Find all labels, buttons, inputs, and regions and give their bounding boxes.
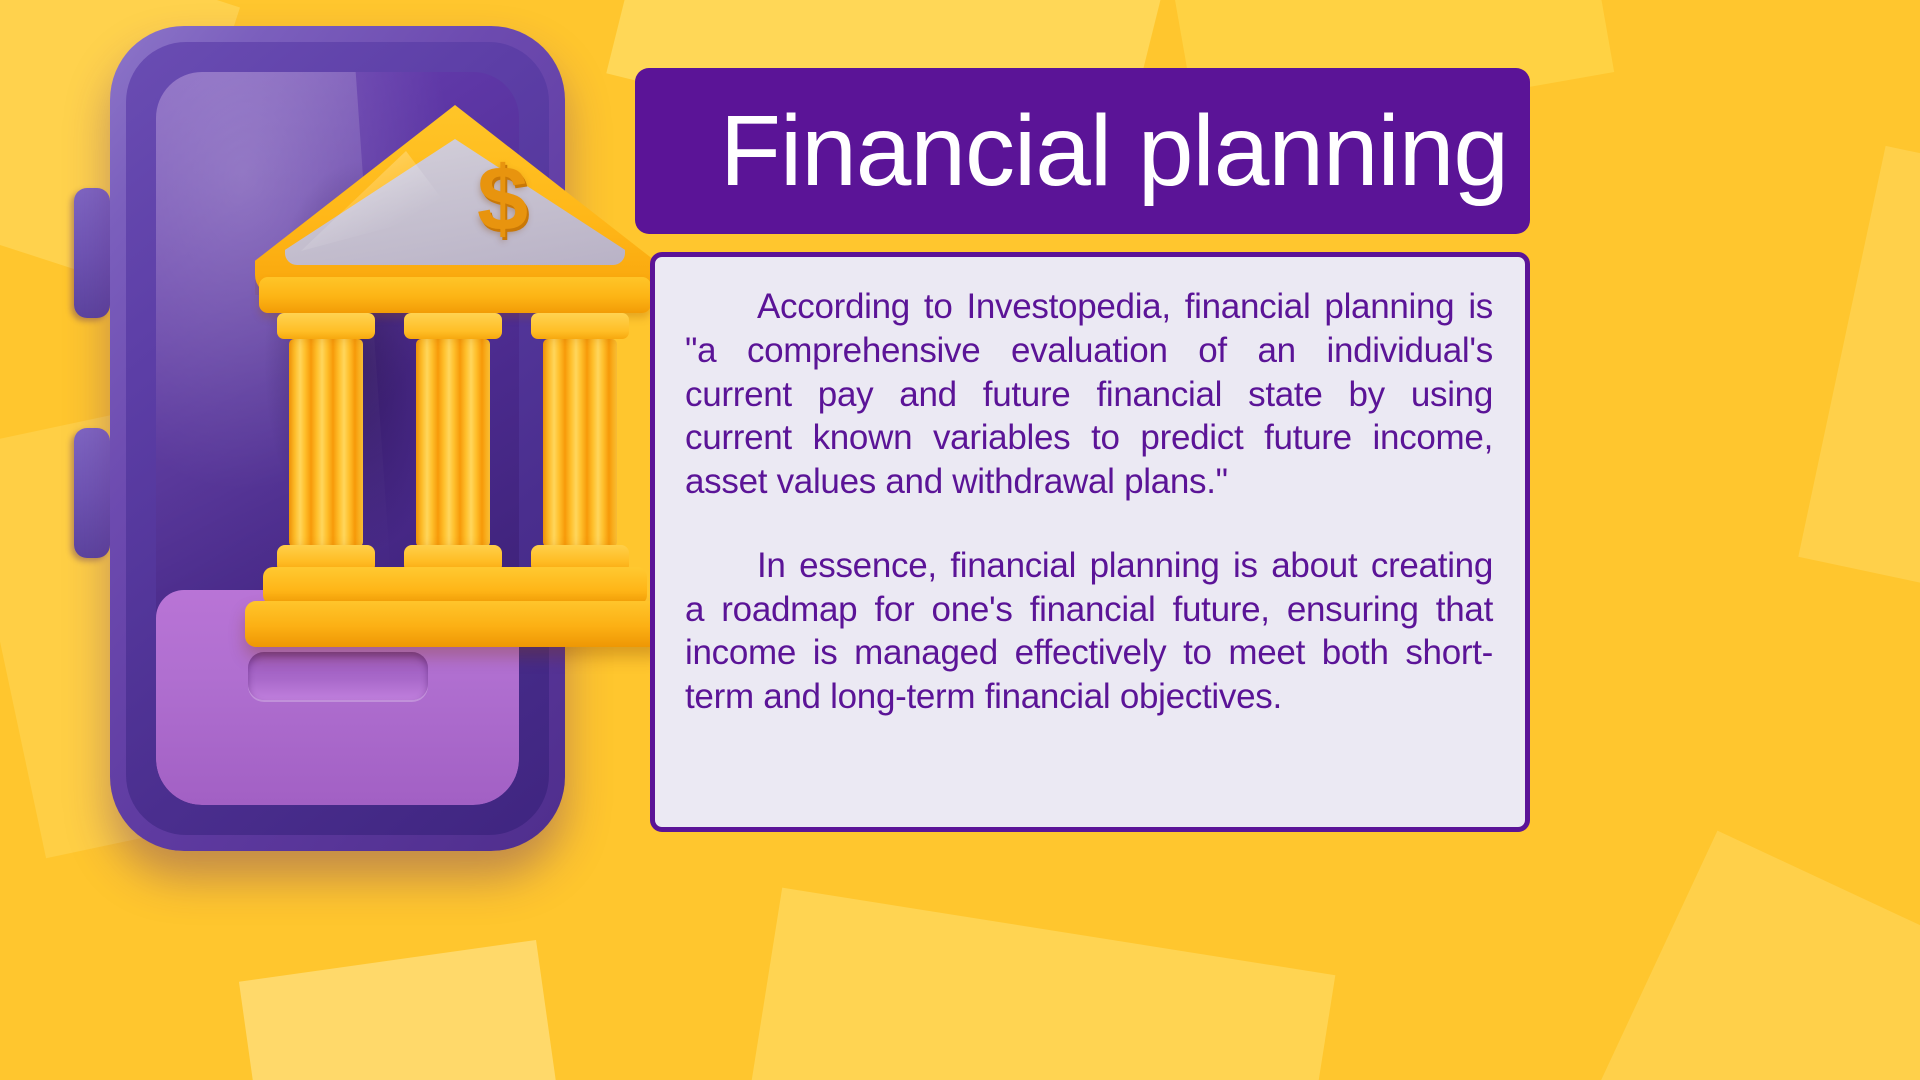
dollar-sign-icon: $ <box>477 153 528 245</box>
column-shaft <box>289 339 363 547</box>
bank-step-upper <box>263 567 647 605</box>
phone-volume-button-down <box>74 428 110 558</box>
column-capital <box>277 313 375 339</box>
phone-volume-button-up <box>74 188 110 318</box>
body-text-card: According to Investopedia, financial pla… <box>650 252 1530 832</box>
bank-building-icon: $ <box>245 105 665 605</box>
page-title: Financial planning <box>720 101 1508 201</box>
paragraph-2: In essence, financial planning is about … <box>685 544 1493 719</box>
title-banner: Financial planning <box>635 68 1530 234</box>
paragraph-1: According to Investopedia, financial pla… <box>685 285 1493 504</box>
bank-column <box>283 313 369 573</box>
bank-column <box>537 313 623 573</box>
bg-shape <box>239 940 561 1080</box>
content-area: Financial planning According to Investop… <box>635 0 1920 1080</box>
bank-column <box>410 313 496 573</box>
column-capital <box>404 313 502 339</box>
column-shaft <box>543 339 617 547</box>
card-slot-groove <box>248 652 428 700</box>
column-shaft <box>416 339 490 547</box>
bank-pediment: $ <box>255 105 655 295</box>
bank-entablature <box>259 277 651 313</box>
column-capital <box>531 313 629 339</box>
bank-step-lower <box>245 601 665 647</box>
